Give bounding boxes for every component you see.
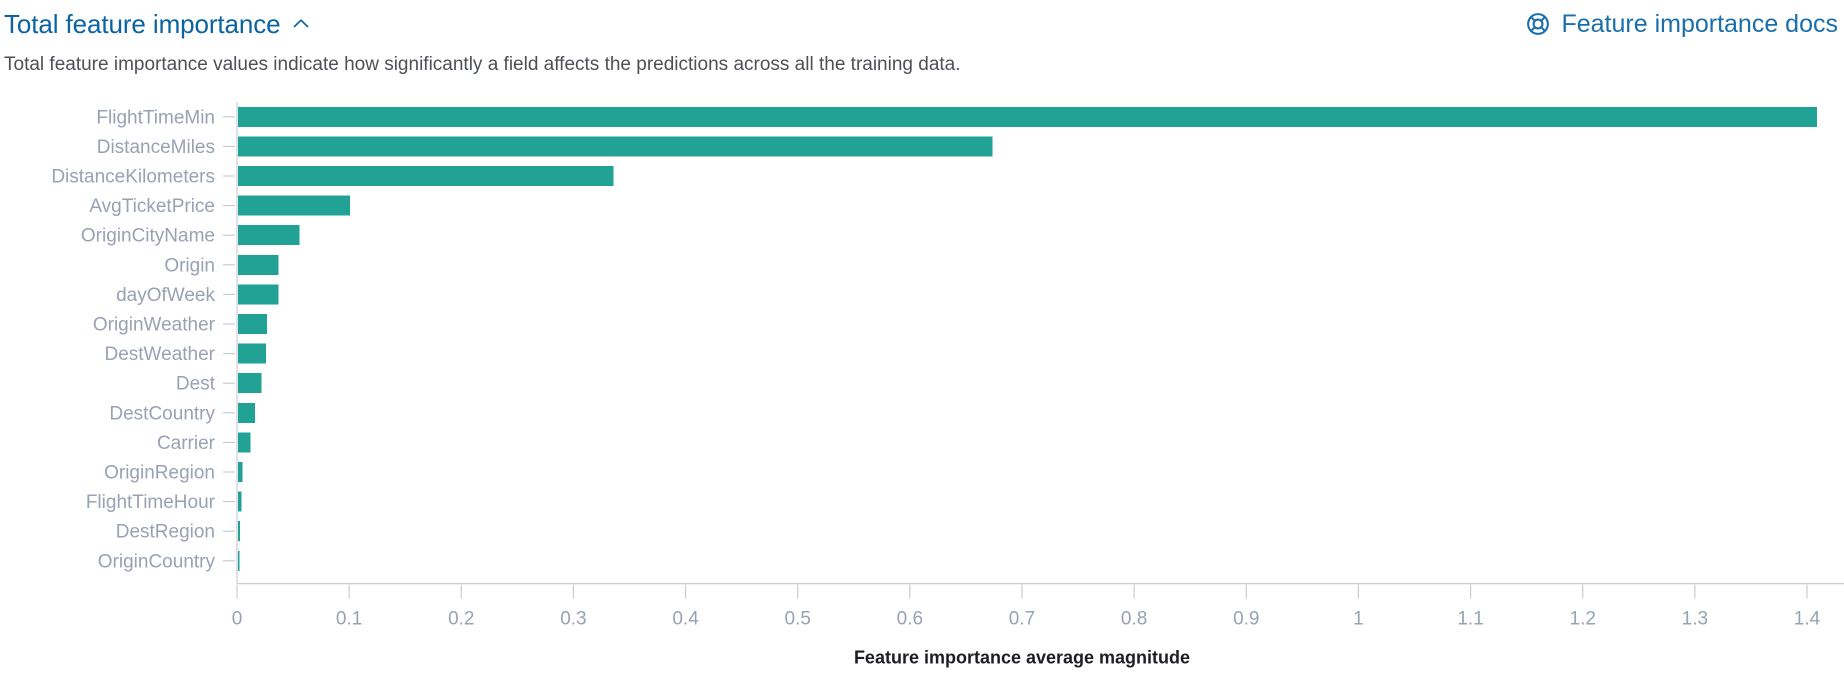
x-tick-label: 0.3 xyxy=(560,609,586,630)
y-axis-label: AvgTicketPrice xyxy=(89,196,215,217)
bar[interactable]: FlightTimeMin: 1.408 xyxy=(238,107,1817,127)
feature-importance-docs-link[interactable]: Feature importance docs xyxy=(1525,10,1838,38)
bar[interactable]: DestRegion: 0.002 xyxy=(238,521,240,541)
x-tick-label: 0.9 xyxy=(1233,609,1259,630)
x-tick-label: 0.8 xyxy=(1121,609,1147,630)
bar[interactable]: DestWeather: 0.025 xyxy=(238,344,266,364)
y-axis-label: OriginRegion xyxy=(104,463,215,484)
x-tick-label: 1.4 xyxy=(1794,609,1821,630)
bar[interactable]: DistanceKilometers: 0.335 xyxy=(238,166,614,186)
bar[interactable]: AvgTicketPrice: 0.1 xyxy=(238,196,350,216)
docs-link-label: Feature importance docs xyxy=(1561,10,1838,38)
bar[interactable]: OriginCountry: 0.0005 xyxy=(238,551,240,571)
page-title: Total feature importance xyxy=(4,9,281,39)
bar[interactable]: dayOfWeek: 0.036 xyxy=(238,284,278,304)
y-axis-label: OriginCountry xyxy=(98,551,216,572)
y-axis-label: DestRegion xyxy=(116,522,215,543)
y-axis-label: dayOfWeek xyxy=(116,285,215,306)
bar-chart-svg: FlightTimeMinFlightTimeMin: 1.408Distanc… xyxy=(0,98,1844,680)
bar[interactable]: OriginWeather: 0.026 xyxy=(238,314,267,334)
x-tick-label: 0.2 xyxy=(448,609,474,630)
x-tick-label: 0.5 xyxy=(785,609,811,630)
bar[interactable]: DistanceMiles: 0.673 xyxy=(238,136,993,156)
panel-title-toggle[interactable]: Total feature importance xyxy=(4,9,311,39)
y-axis-label: Dest xyxy=(176,374,216,395)
feature-importance-panel: Total feature importance Feature importa… xyxy=(0,0,1844,680)
x-tick-label: 1 xyxy=(1353,609,1364,630)
x-tick-label: 1.1 xyxy=(1457,609,1483,630)
x-tick-label: 1.2 xyxy=(1570,609,1596,630)
panel-header: Total feature importance Feature importa… xyxy=(0,0,1844,48)
lifebuoy-icon xyxy=(1525,11,1551,37)
x-tick-label: 0.1 xyxy=(336,609,362,630)
panel-description: Total feature importance values indicate… xyxy=(4,52,961,78)
y-axis-label: FlightTimeHour xyxy=(86,492,216,513)
y-axis-label: OriginCityName xyxy=(81,226,215,247)
bar[interactable]: Origin: 0.036 xyxy=(238,255,278,275)
y-axis-label: FlightTimeMin xyxy=(96,107,215,128)
x-axis-title: Feature importance average magnitude xyxy=(854,648,1190,668)
x-tick-label: 0 xyxy=(232,609,243,630)
bar[interactable]: Dest: 0.021 xyxy=(238,373,262,393)
x-tick-label: 1.3 xyxy=(1682,609,1708,630)
feature-importance-chart: FlightTimeMinFlightTimeMin: 1.408Distanc… xyxy=(0,98,1844,680)
y-axis-label: DistanceKilometers xyxy=(51,167,215,188)
y-axis-label: Origin xyxy=(164,255,215,276)
bar[interactable]: Carrier: 0.011 xyxy=(238,432,250,452)
y-axis-label: Carrier xyxy=(157,433,216,454)
bar[interactable]: OriginCityName: 0.055 xyxy=(238,225,300,245)
y-axis-label: DestCountry xyxy=(109,403,215,424)
x-tick-label: 0.4 xyxy=(672,609,699,630)
y-axis-label: OriginWeather xyxy=(93,315,216,336)
x-tick-label: 0.6 xyxy=(897,609,923,630)
y-axis-label: DestWeather xyxy=(104,344,215,365)
bar[interactable]: FlightTimeHour: 0.003 xyxy=(238,492,241,512)
x-tick-label: 0.7 xyxy=(1009,609,1035,630)
y-axis-label: DistanceMiles xyxy=(97,137,215,158)
chevron-up-icon[interactable] xyxy=(291,14,311,34)
bar[interactable]: DestCountry: 0.015 xyxy=(238,403,255,423)
bar[interactable]: OriginRegion: 0.004 xyxy=(238,462,242,482)
